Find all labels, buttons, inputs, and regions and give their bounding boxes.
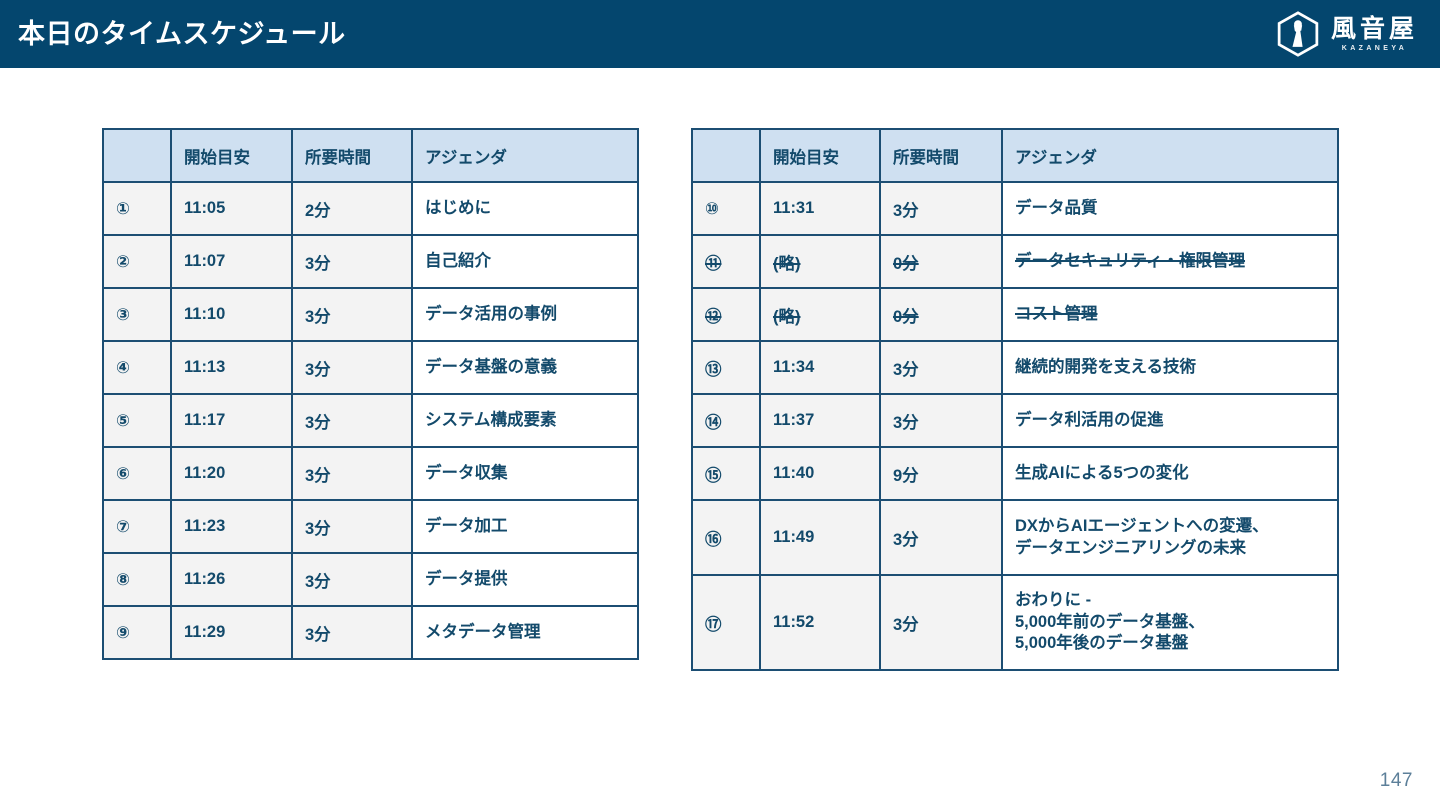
row-agenda-cell: データ基盤の意義	[412, 341, 638, 394]
row-agenda-cell: 継続的開発を支える技術	[1002, 341, 1338, 394]
table-row: ⑬11:343分継続的開発を支える技術	[692, 341, 1338, 394]
row-start-time-cell: 11:07	[171, 235, 292, 288]
row-number-cell: ⑭	[692, 394, 760, 447]
row-agenda-cell: データ品質	[1002, 182, 1338, 235]
row-duration-cell: 3分	[292, 288, 412, 341]
row-number-cell: ①	[103, 182, 171, 235]
table-row: ⑰11:523分おわりに -5,000年前のデータ基盤、5,000年後のデータ基…	[692, 575, 1338, 670]
column-header-duration: 所要時間	[880, 129, 1002, 182]
row-start-time-cell: 11:34	[760, 341, 880, 394]
row-duration-cell: 3分	[292, 394, 412, 447]
row-agenda-cell: コスト管理	[1002, 288, 1338, 341]
row-start-time-cell: 11:31	[760, 182, 880, 235]
schedule-table-right: 開始目安 所要時間 アジェンダ ⑩11:313分データ品質⑪(略)0分データセキ…	[691, 128, 1339, 671]
row-number-cell: ⑪	[692, 235, 760, 288]
row-duration-cell: 3分	[880, 394, 1002, 447]
schedule-table-left: 開始目安 所要時間 アジェンダ ①11:052分はじめに②11:073分自己紹介…	[102, 128, 639, 660]
column-header-agenda: アジェンダ	[1002, 129, 1338, 182]
row-duration-cell: 9分	[880, 447, 1002, 500]
table-header-row: 開始目安 所要時間 アジェンダ	[692, 129, 1338, 182]
row-number-cell: ⑯	[692, 500, 760, 575]
row-number-cell: ⑤	[103, 394, 171, 447]
page-number: 147	[1380, 770, 1413, 792]
row-start-time-cell: (略)	[760, 288, 880, 341]
table-row: ⑯11:493分DXからAIエージェントへの変遷、データエンジニアリングの未来	[692, 500, 1338, 575]
row-start-time-cell: (略)	[760, 235, 880, 288]
row-number-cell: ⑰	[692, 575, 760, 670]
row-agenda-cell: おわりに -5,000年前のデータ基盤、5,000年後のデータ基盤	[1002, 575, 1338, 670]
table-row: ④11:133分データ基盤の意義	[103, 341, 638, 394]
brand-text: 風音屋 KAZANEYA	[1331, 16, 1418, 52]
table-row: ⑪(略)0分データセキュリティ・権限管理	[692, 235, 1338, 288]
row-start-time-cell: 11:10	[171, 288, 292, 341]
row-duration-cell: 0分	[880, 288, 1002, 341]
row-number-cell: ⑩	[692, 182, 760, 235]
table-row: ①11:052分はじめに	[103, 182, 638, 235]
column-header-number	[692, 129, 760, 182]
brand-name-jp: 風音屋	[1331, 16, 1418, 42]
row-number-cell: ③	[103, 288, 171, 341]
column-header-agenda: アジェンダ	[412, 129, 638, 182]
row-number-cell: ⑥	[103, 447, 171, 500]
table-row: ⑨11:293分メタデータ管理	[103, 606, 638, 659]
row-duration-cell: 3分	[880, 500, 1002, 575]
row-start-time-cell: 11:13	[171, 341, 292, 394]
row-start-time-cell: 11:37	[760, 394, 880, 447]
row-number-cell: ⑧	[103, 553, 171, 606]
row-start-time-cell: 11:49	[760, 500, 880, 575]
row-agenda-cell: DXからAIエージェントへの変遷、データエンジニアリングの未来	[1002, 500, 1338, 575]
row-agenda-cell: データ収集	[412, 447, 638, 500]
row-number-cell: ⑮	[692, 447, 760, 500]
row-agenda-cell: システム構成要素	[412, 394, 638, 447]
schedule-left-body: ①11:052分はじめに②11:073分自己紹介③11:103分データ活用の事例…	[103, 182, 638, 659]
row-agenda-cell: データセキュリティ・権限管理	[1002, 235, 1338, 288]
column-header-start-time: 開始目安	[171, 129, 292, 182]
row-number-cell: ⑦	[103, 500, 171, 553]
row-agenda-cell: メタデータ管理	[412, 606, 638, 659]
row-start-time-cell: 11:20	[171, 447, 292, 500]
row-duration-cell: 3分	[880, 182, 1002, 235]
row-duration-cell: 3分	[292, 606, 412, 659]
row-start-time-cell: 11:05	[171, 182, 292, 235]
row-duration-cell: 3分	[292, 500, 412, 553]
row-agenda-cell: データ提供	[412, 553, 638, 606]
table-row: ⑦11:233分データ加工	[103, 500, 638, 553]
row-agenda-cell: データ加工	[412, 500, 638, 553]
column-header-start-time: 開始目安	[760, 129, 880, 182]
table-row: ⑤11:173分システム構成要素	[103, 394, 638, 447]
row-duration-cell: 3分	[292, 235, 412, 288]
table-row: ⑭11:373分データ利活用の促進	[692, 394, 1338, 447]
row-number-cell: ④	[103, 341, 171, 394]
row-duration-cell: 3分	[292, 553, 412, 606]
table-row: ⑮11:409分生成AIによる5つの変化	[692, 447, 1338, 500]
row-number-cell: ⑫	[692, 288, 760, 341]
row-start-time-cell: 11:26	[171, 553, 292, 606]
row-start-time-cell: 11:23	[171, 500, 292, 553]
table-row: ②11:073分自己紹介	[103, 235, 638, 288]
row-agenda-cell: はじめに	[412, 182, 638, 235]
table-row: ⑥11:203分データ収集	[103, 447, 638, 500]
table-row: ⑩11:313分データ品質	[692, 182, 1338, 235]
column-header-duration: 所要時間	[292, 129, 412, 182]
row-agenda-cell: 生成AIによる5つの変化	[1002, 447, 1338, 500]
row-duration-cell: 2分	[292, 182, 412, 235]
table-row: ⑫(略)0分コスト管理	[692, 288, 1338, 341]
row-duration-cell: 0分	[880, 235, 1002, 288]
row-duration-cell: 3分	[880, 575, 1002, 670]
table-header-row: 開始目安 所要時間 アジェンダ	[103, 129, 638, 182]
table-row: ③11:103分データ活用の事例	[103, 288, 638, 341]
table-row: ⑧11:263分データ提供	[103, 553, 638, 606]
schedule-right-body: ⑩11:313分データ品質⑪(略)0分データセキュリティ・権限管理⑫(略)0分コ…	[692, 182, 1338, 670]
row-start-time-cell: 11:52	[760, 575, 880, 670]
row-agenda-cell: 自己紹介	[412, 235, 638, 288]
row-start-time-cell: 11:40	[760, 447, 880, 500]
row-agenda-cell: データ利活用の促進	[1002, 394, 1338, 447]
row-duration-cell: 3分	[880, 341, 1002, 394]
row-number-cell: ②	[103, 235, 171, 288]
brand-logo: 風音屋 KAZANEYA	[1275, 11, 1418, 57]
row-agenda-cell: データ活用の事例	[412, 288, 638, 341]
row-start-time-cell: 11:17	[171, 394, 292, 447]
row-start-time-cell: 11:29	[171, 606, 292, 659]
row-duration-cell: 3分	[292, 447, 412, 500]
brand-name-en: KAZANEYA	[1342, 45, 1407, 52]
row-number-cell: ⑬	[692, 341, 760, 394]
slide-header-bar: 本日のタイムスケジュール 風音屋 KAZANEYA	[0, 0, 1440, 68]
column-header-number	[103, 129, 171, 182]
kazaneya-hexagon-logo-icon	[1275, 11, 1321, 57]
row-number-cell: ⑨	[103, 606, 171, 659]
row-duration-cell: 3分	[292, 341, 412, 394]
page-title: 本日のタイムスケジュール	[18, 21, 346, 48]
